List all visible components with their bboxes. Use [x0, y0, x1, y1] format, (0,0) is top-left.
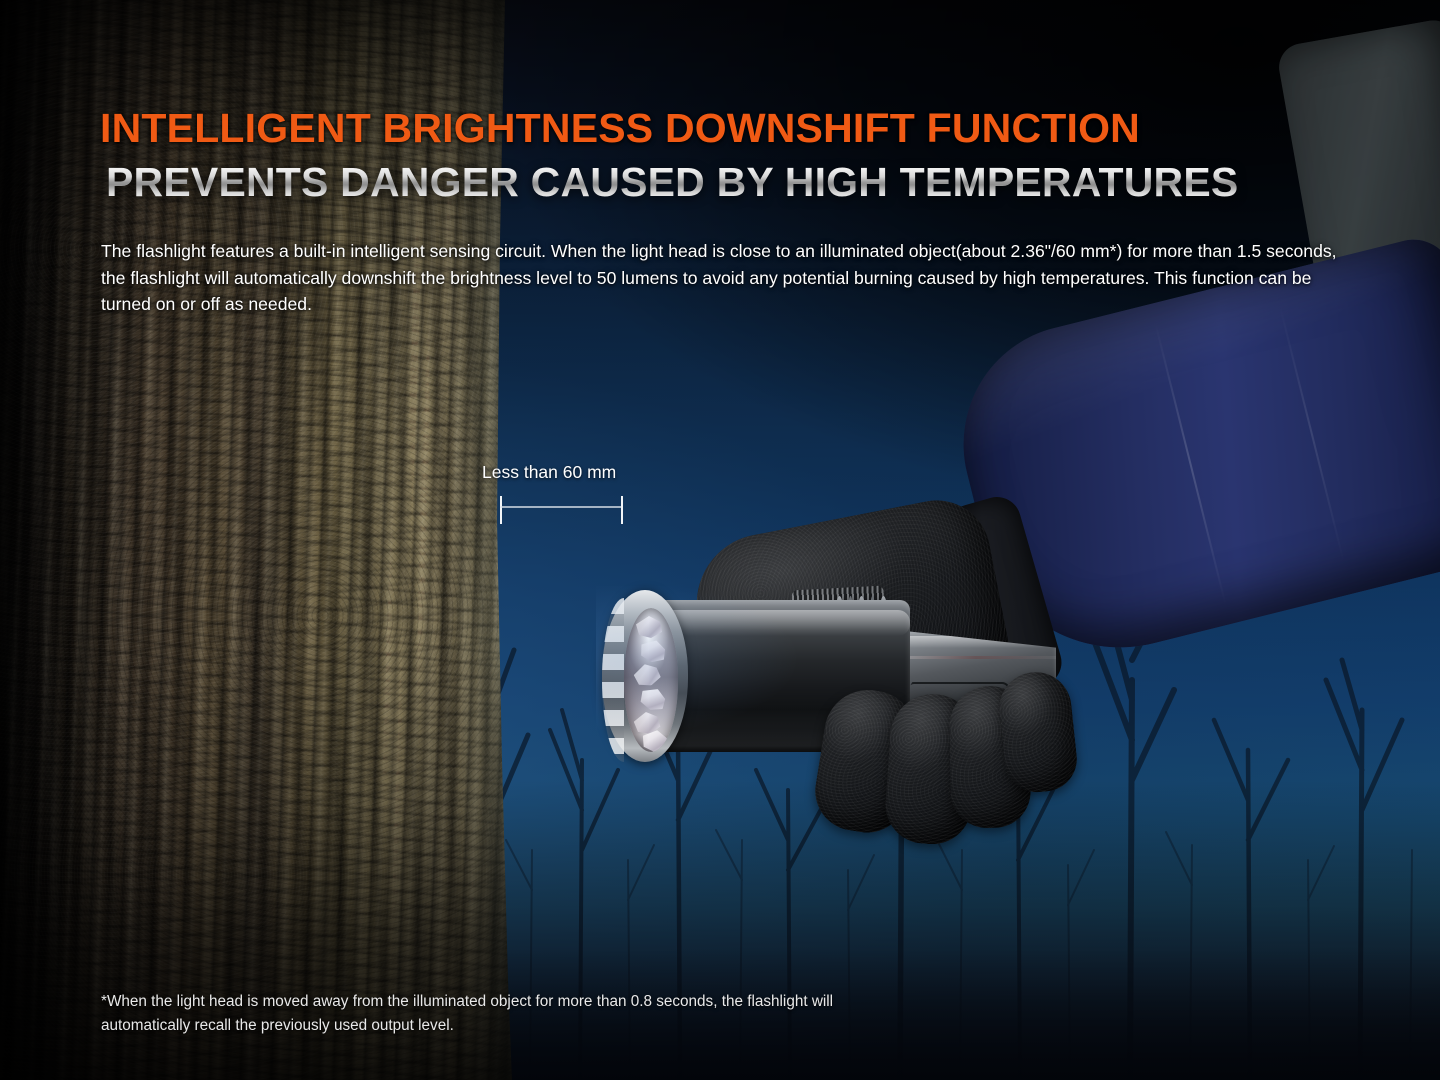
distance-label: Less than 60 mm	[482, 462, 616, 483]
dimension-tick-left	[500, 496, 502, 524]
dimension-tick-right	[621, 496, 623, 524]
headline-secondary: PREVENTS DANGER CAUSED BY HIGH TEMPERATU…	[106, 162, 1238, 203]
headline-primary: INTELLIGENT BRIGHTNESS DOWNSHIFT FUNCTIO…	[100, 108, 1238, 149]
sleeve-seam-secondary	[1279, 305, 1345, 562]
product-feature-banner: Less than 60 mm INTELLIGENT BRIGHTNESS D…	[0, 0, 1440, 1080]
barrel-highlight	[652, 610, 910, 636]
bezel-crenellation	[602, 598, 624, 762]
distance-annotation: Less than 60 mm	[482, 462, 682, 532]
body-paragraph: The flashlight features a built-in intel…	[101, 238, 1356, 318]
footnote-text: *When the light head is moved away from …	[101, 990, 921, 1038]
flashlight-bezel	[602, 590, 688, 762]
sleeve-seam	[1155, 323, 1227, 605]
led-reflector-array	[624, 608, 678, 752]
dimension-line	[500, 506, 622, 508]
headline-group: INTELLIGENT BRIGHTNESS DOWNSHIFT FUNCTIO…	[100, 108, 1238, 203]
reflector-shadow	[624, 608, 678, 752]
